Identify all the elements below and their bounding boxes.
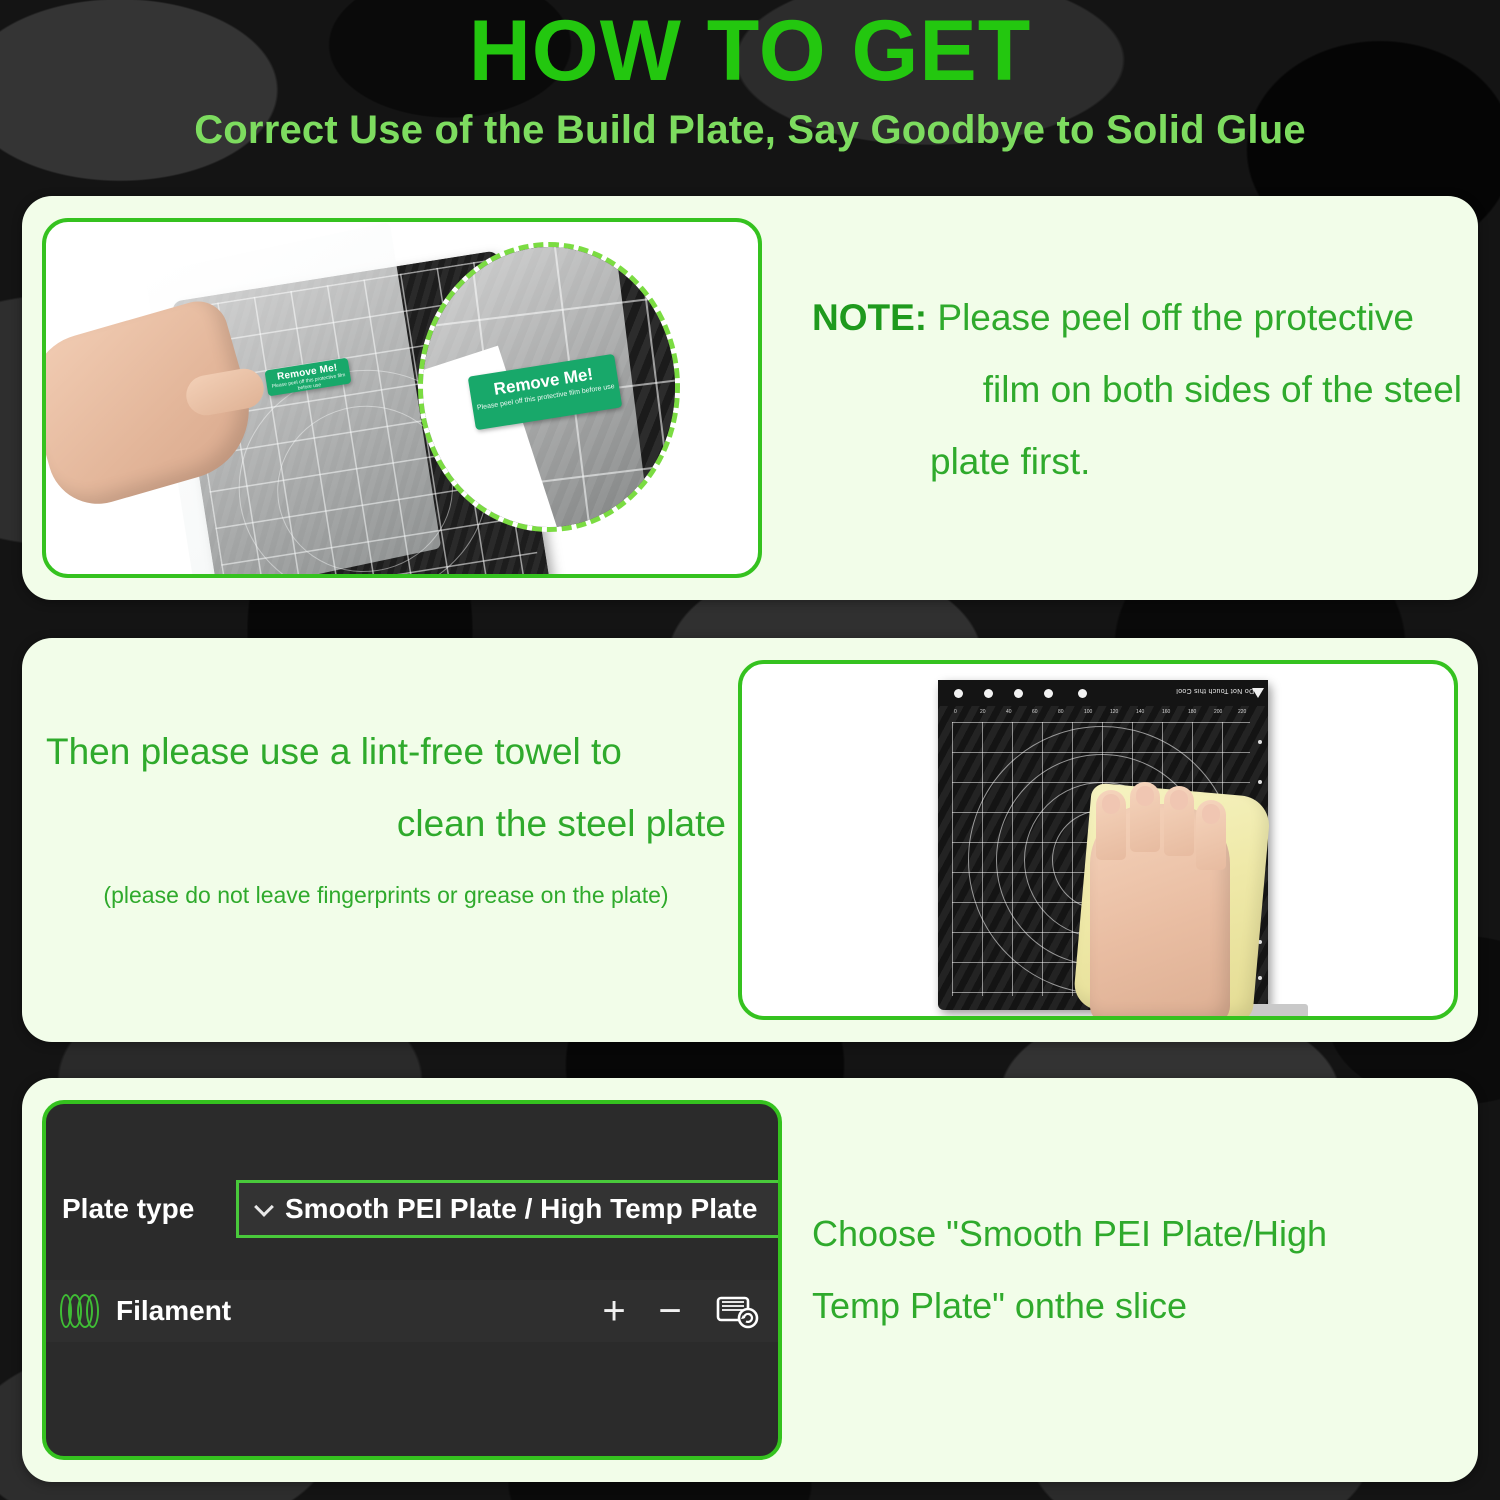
fingernail xyxy=(1102,794,1120,814)
ruler-tick: 60 xyxy=(1032,709,1038,715)
note-line: NOTE: Please peel off the protective xyxy=(812,282,1462,354)
filament-sync-icon[interactable] xyxy=(716,1292,760,1330)
plate-side-mark xyxy=(1258,740,1262,744)
ruler-tick: 100 xyxy=(1084,709,1092,715)
ruler-tick: 220 xyxy=(1238,709,1246,715)
note-line-text: Please peel off the protective xyxy=(927,297,1414,338)
step-1-note: NOTE: Please peel off the protective fil… xyxy=(812,282,1462,498)
chevron-down-icon[interactable] xyxy=(255,1200,273,1218)
add-filament-button[interactable]: + xyxy=(586,1291,642,1331)
step-3-note: Choose "Smooth PEI Plate/High Temp Plate… xyxy=(812,1198,1452,1342)
note-line: film on both sides of the steel xyxy=(812,354,1462,426)
plate-side-mark xyxy=(1258,780,1262,784)
ruler-tick: 0 xyxy=(954,709,957,715)
infographic-page: HOW TO GET Correct Use of the Build Plat… xyxy=(0,0,1500,1500)
ruler-tick: 80 xyxy=(1058,709,1064,715)
ruler-tick: 180 xyxy=(1188,709,1196,715)
plate-hole xyxy=(1014,689,1023,698)
plate-hole xyxy=(984,689,993,698)
fingernail xyxy=(1170,790,1188,810)
step-2-photo: Do Not Touch this Cool 0 20 40 60 80 100… xyxy=(738,660,1458,1020)
ruler-tick: 140 xyxy=(1136,709,1144,715)
note-lead: NOTE: xyxy=(812,297,927,338)
page-header: HOW TO GET Correct Use of the Build Plat… xyxy=(0,0,1500,186)
finger xyxy=(1196,800,1226,870)
filament-row[interactable]: Filament + − xyxy=(46,1280,778,1342)
plate-warning-text: Do Not Touch this Cool xyxy=(1176,687,1254,694)
plate-side-mark xyxy=(1258,976,1262,980)
fingernail xyxy=(1202,804,1220,824)
note-line: Choose "Smooth PEI Plate/High xyxy=(812,1198,1452,1270)
plate-type-label: Plate type xyxy=(62,1193,194,1225)
step-1-photo: Remove Me! Please peel off this protecti… xyxy=(42,218,762,578)
note-line: Then please use a lint-free towel to xyxy=(46,716,726,788)
note-line: clean the steel plate xyxy=(46,788,726,860)
filament-spool-icon xyxy=(60,1294,100,1328)
ruler-tick: 120 xyxy=(1110,709,1118,715)
ruler-tick: 20 xyxy=(980,709,986,715)
finger xyxy=(1130,782,1160,852)
plate-ruler: 0 20 40 60 80 100 120 140 160 180 200 22… xyxy=(938,706,1268,719)
page-title: HOW TO GET xyxy=(0,8,1500,96)
finger xyxy=(1164,786,1194,856)
ruler-tick: 40 xyxy=(1006,709,1012,715)
step-card-2: Then please use a lint-free towel to cle… xyxy=(22,638,1478,1042)
magnifier-bubble: Remove Me! Please peel off this protecti… xyxy=(418,242,680,532)
filament-label: Filament xyxy=(116,1295,231,1327)
plate-hole xyxy=(1044,689,1053,698)
note-subtext: (please do not leave fingerprints or gre… xyxy=(46,882,726,909)
plate-hole xyxy=(954,689,963,698)
page-subtitle: Correct Use of the Build Plate, Say Good… xyxy=(0,108,1500,153)
step-card-1: Remove Me! Please peel off this protecti… xyxy=(22,196,1478,600)
finger xyxy=(1096,790,1126,860)
plate-type-value: Smooth PEI Plate / High Temp Plate xyxy=(285,1193,757,1225)
note-line: plate first. xyxy=(812,426,1462,498)
plate-type-dropdown[interactable]: Smooth PEI Plate / High Temp Plate xyxy=(236,1180,782,1238)
warning-triangle-icon xyxy=(1252,688,1264,698)
ruler-tick: 200 xyxy=(1214,709,1222,715)
ruler-tick: 160 xyxy=(1162,709,1170,715)
fingernail xyxy=(1136,786,1154,806)
hand-illustration xyxy=(1090,804,1230,1020)
step-2-note: Then please use a lint-free towel to cle… xyxy=(46,716,726,909)
plate-hole xyxy=(1078,689,1087,698)
step-card-3: Plate type Smooth PEI Plate / High Temp … xyxy=(22,1078,1478,1482)
plate-top-bar: Do Not Touch this Cool xyxy=(938,680,1268,706)
note-line: Temp Plate" onthe slice xyxy=(812,1270,1452,1342)
slicer-settings-panel: Plate type Smooth PEI Plate / High Temp … xyxy=(42,1100,782,1460)
remove-filament-button[interactable]: − xyxy=(642,1291,698,1331)
